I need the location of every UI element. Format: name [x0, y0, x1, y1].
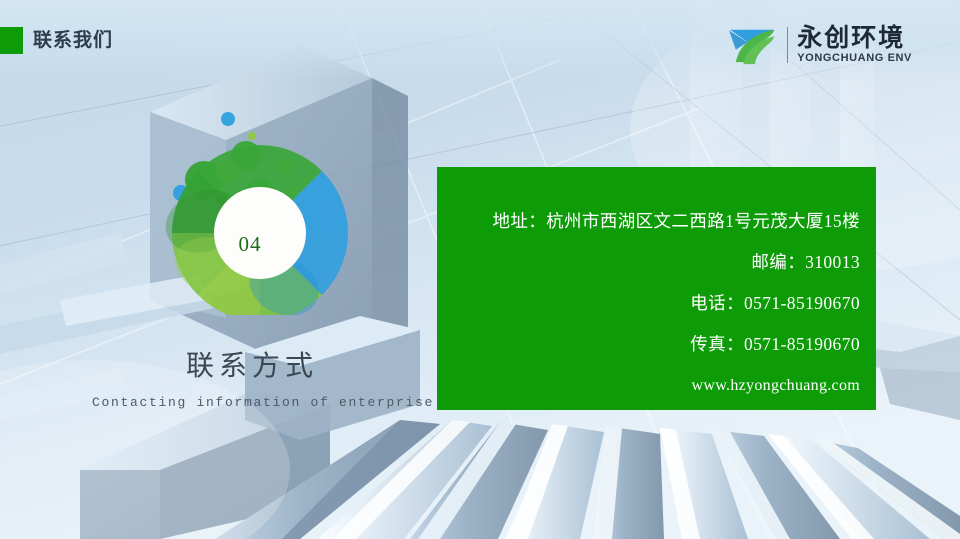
- section-badge-graphic: [160, 100, 360, 315]
- contact-info-panel: 地址：杭州市西湖区文二西路1号元茂大厦15楼 邮编：310013 电话：0571…: [437, 167, 876, 410]
- header-accent-square: [0, 27, 23, 54]
- company-logo: 永创环境 YONGCHUANG ENV: [726, 22, 912, 68]
- yongchuang-leaf-logo-icon: [726, 24, 780, 66]
- contact-slide: 联系我们 永创环境 YONGCHUANG ENV: [0, 0, 960, 539]
- logo-name-en: YONGCHUANG ENV: [797, 52, 912, 65]
- contact-address: 地址：杭州市西湖区文二西路1号元茂大厦15楼: [455, 201, 860, 242]
- contact-phone: 电话：0571-85190670: [455, 283, 860, 324]
- contact-postcode: 邮编：310013: [455, 242, 860, 283]
- section-title-cn: 联系方式: [186, 349, 318, 383]
- logo-name-cn: 永创环境: [797, 25, 912, 51]
- section-title-en: Contacting information of enterprise: [92, 394, 434, 412]
- logo-divider: [787, 27, 788, 63]
- contact-website[interactable]: www.hzyongchuang.com: [455, 365, 860, 406]
- section-number: 04: [205, 232, 295, 257]
- contact-fax: 传真：0571-85190670: [455, 324, 860, 365]
- page-title: 联系我们: [33, 28, 113, 54]
